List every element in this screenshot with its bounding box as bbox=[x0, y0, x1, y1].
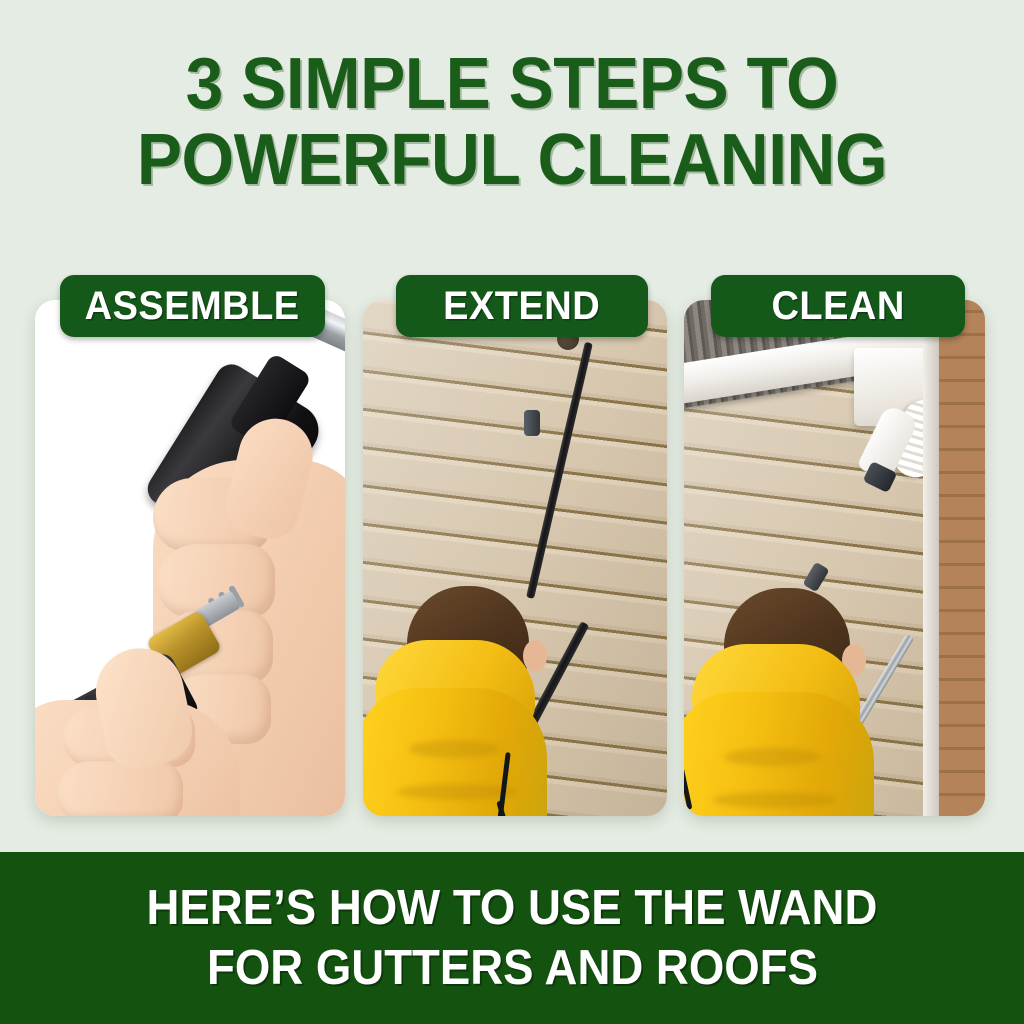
step-badge-clean-label: CLEAN bbox=[771, 284, 904, 329]
wand-joint bbox=[524, 410, 540, 436]
assemble-illustration bbox=[35, 300, 345, 816]
jacket-fold bbox=[397, 784, 517, 800]
step-image-clean[interactable] bbox=[684, 300, 985, 816]
footer-banner-line-1: HERE’S HOW TO USE THE WAND bbox=[147, 878, 878, 938]
jacket-fold bbox=[712, 792, 836, 808]
step-image-extend[interactable] bbox=[363, 300, 667, 816]
page-title-line-2: POWERFUL CLEANING bbox=[31, 122, 994, 198]
corner-trim bbox=[923, 300, 939, 816]
step-image-assemble[interactable] bbox=[35, 300, 345, 816]
page-title: 3 SIMPLE STEPS TO POWERFUL CLEANING bbox=[31, 46, 994, 198]
step-badge-clean[interactable]: CLEAN bbox=[711, 275, 965, 337]
step-badge-assemble[interactable]: ASSEMBLE bbox=[60, 275, 325, 337]
ear bbox=[523, 640, 547, 672]
step-badge-extend-label: EXTEND bbox=[444, 284, 601, 329]
jacket-fold bbox=[724, 748, 820, 766]
page-title-line-1: 3 SIMPLE STEPS TO bbox=[31, 46, 994, 122]
finger bbox=[57, 761, 183, 816]
footer-banner-line-2: FOR GUTTERS AND ROOFS bbox=[207, 938, 818, 998]
jacket-fold bbox=[409, 740, 499, 758]
step-badge-assemble-label: ASSEMBLE bbox=[85, 284, 300, 329]
brick-wall bbox=[939, 300, 985, 816]
steps-gallery bbox=[0, 300, 1024, 818]
footer-banner: HERE’S HOW TO USE THE WAND FOR GUTTERS A… bbox=[0, 852, 1024, 1024]
infographic-canvas: 3 SIMPLE STEPS TO POWERFUL CLEANING bbox=[0, 0, 1024, 1024]
step-badge-extend[interactable]: EXTEND bbox=[396, 275, 648, 337]
